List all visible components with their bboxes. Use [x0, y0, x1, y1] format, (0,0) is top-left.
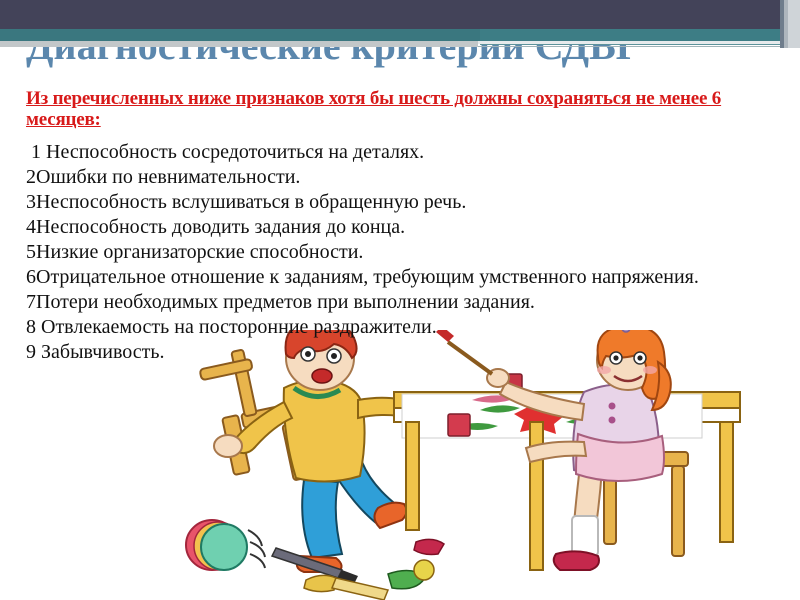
list-item: 1 Неспособность сосредоточиться на детал… — [26, 140, 792, 165]
classroom-illustration — [180, 330, 770, 600]
list-item: 3Неспособность вслушиваться в обращенную… — [26, 190, 792, 215]
banner-navy-bar — [0, 0, 780, 29]
criteria-list: 1 Неспособность сосредоточиться на детал… — [26, 140, 792, 365]
slide-content: Из перечисленных ниже признаков хотя бы … — [26, 88, 792, 365]
banner-vertical-strip-light — [788, 0, 800, 48]
rolling-ball — [186, 520, 265, 570]
list-item: 4Неспособность доводить задания до конца… — [26, 215, 792, 240]
list-item: 9 Забывчивость. — [26, 340, 792, 365]
list-item: 5Низкие организаторские способности. — [26, 240, 792, 265]
list-item: 8 Отвлекаемость на посторонние раздражит… — [26, 315, 792, 340]
illustration-svg — [180, 330, 770, 600]
paint-jar — [448, 414, 470, 436]
lead-paragraph: Из перечисленных ниже признаков хотя бы … — [26, 88, 792, 130]
list-item: 6Отрицательное отношение к заданиям, тре… — [26, 265, 792, 290]
list-item: 2Ошибки по невнимательности. — [26, 165, 792, 190]
list-item: 7Потери необходимых предметов при выполн… — [26, 290, 792, 315]
dropped-pencils — [272, 539, 444, 600]
girl-painting — [436, 330, 688, 570]
slide-title-text: Диагностические критерии СДВГ — [26, 28, 786, 68]
slide-title: Диагностические критерии СДВГ — [26, 28, 786, 76]
